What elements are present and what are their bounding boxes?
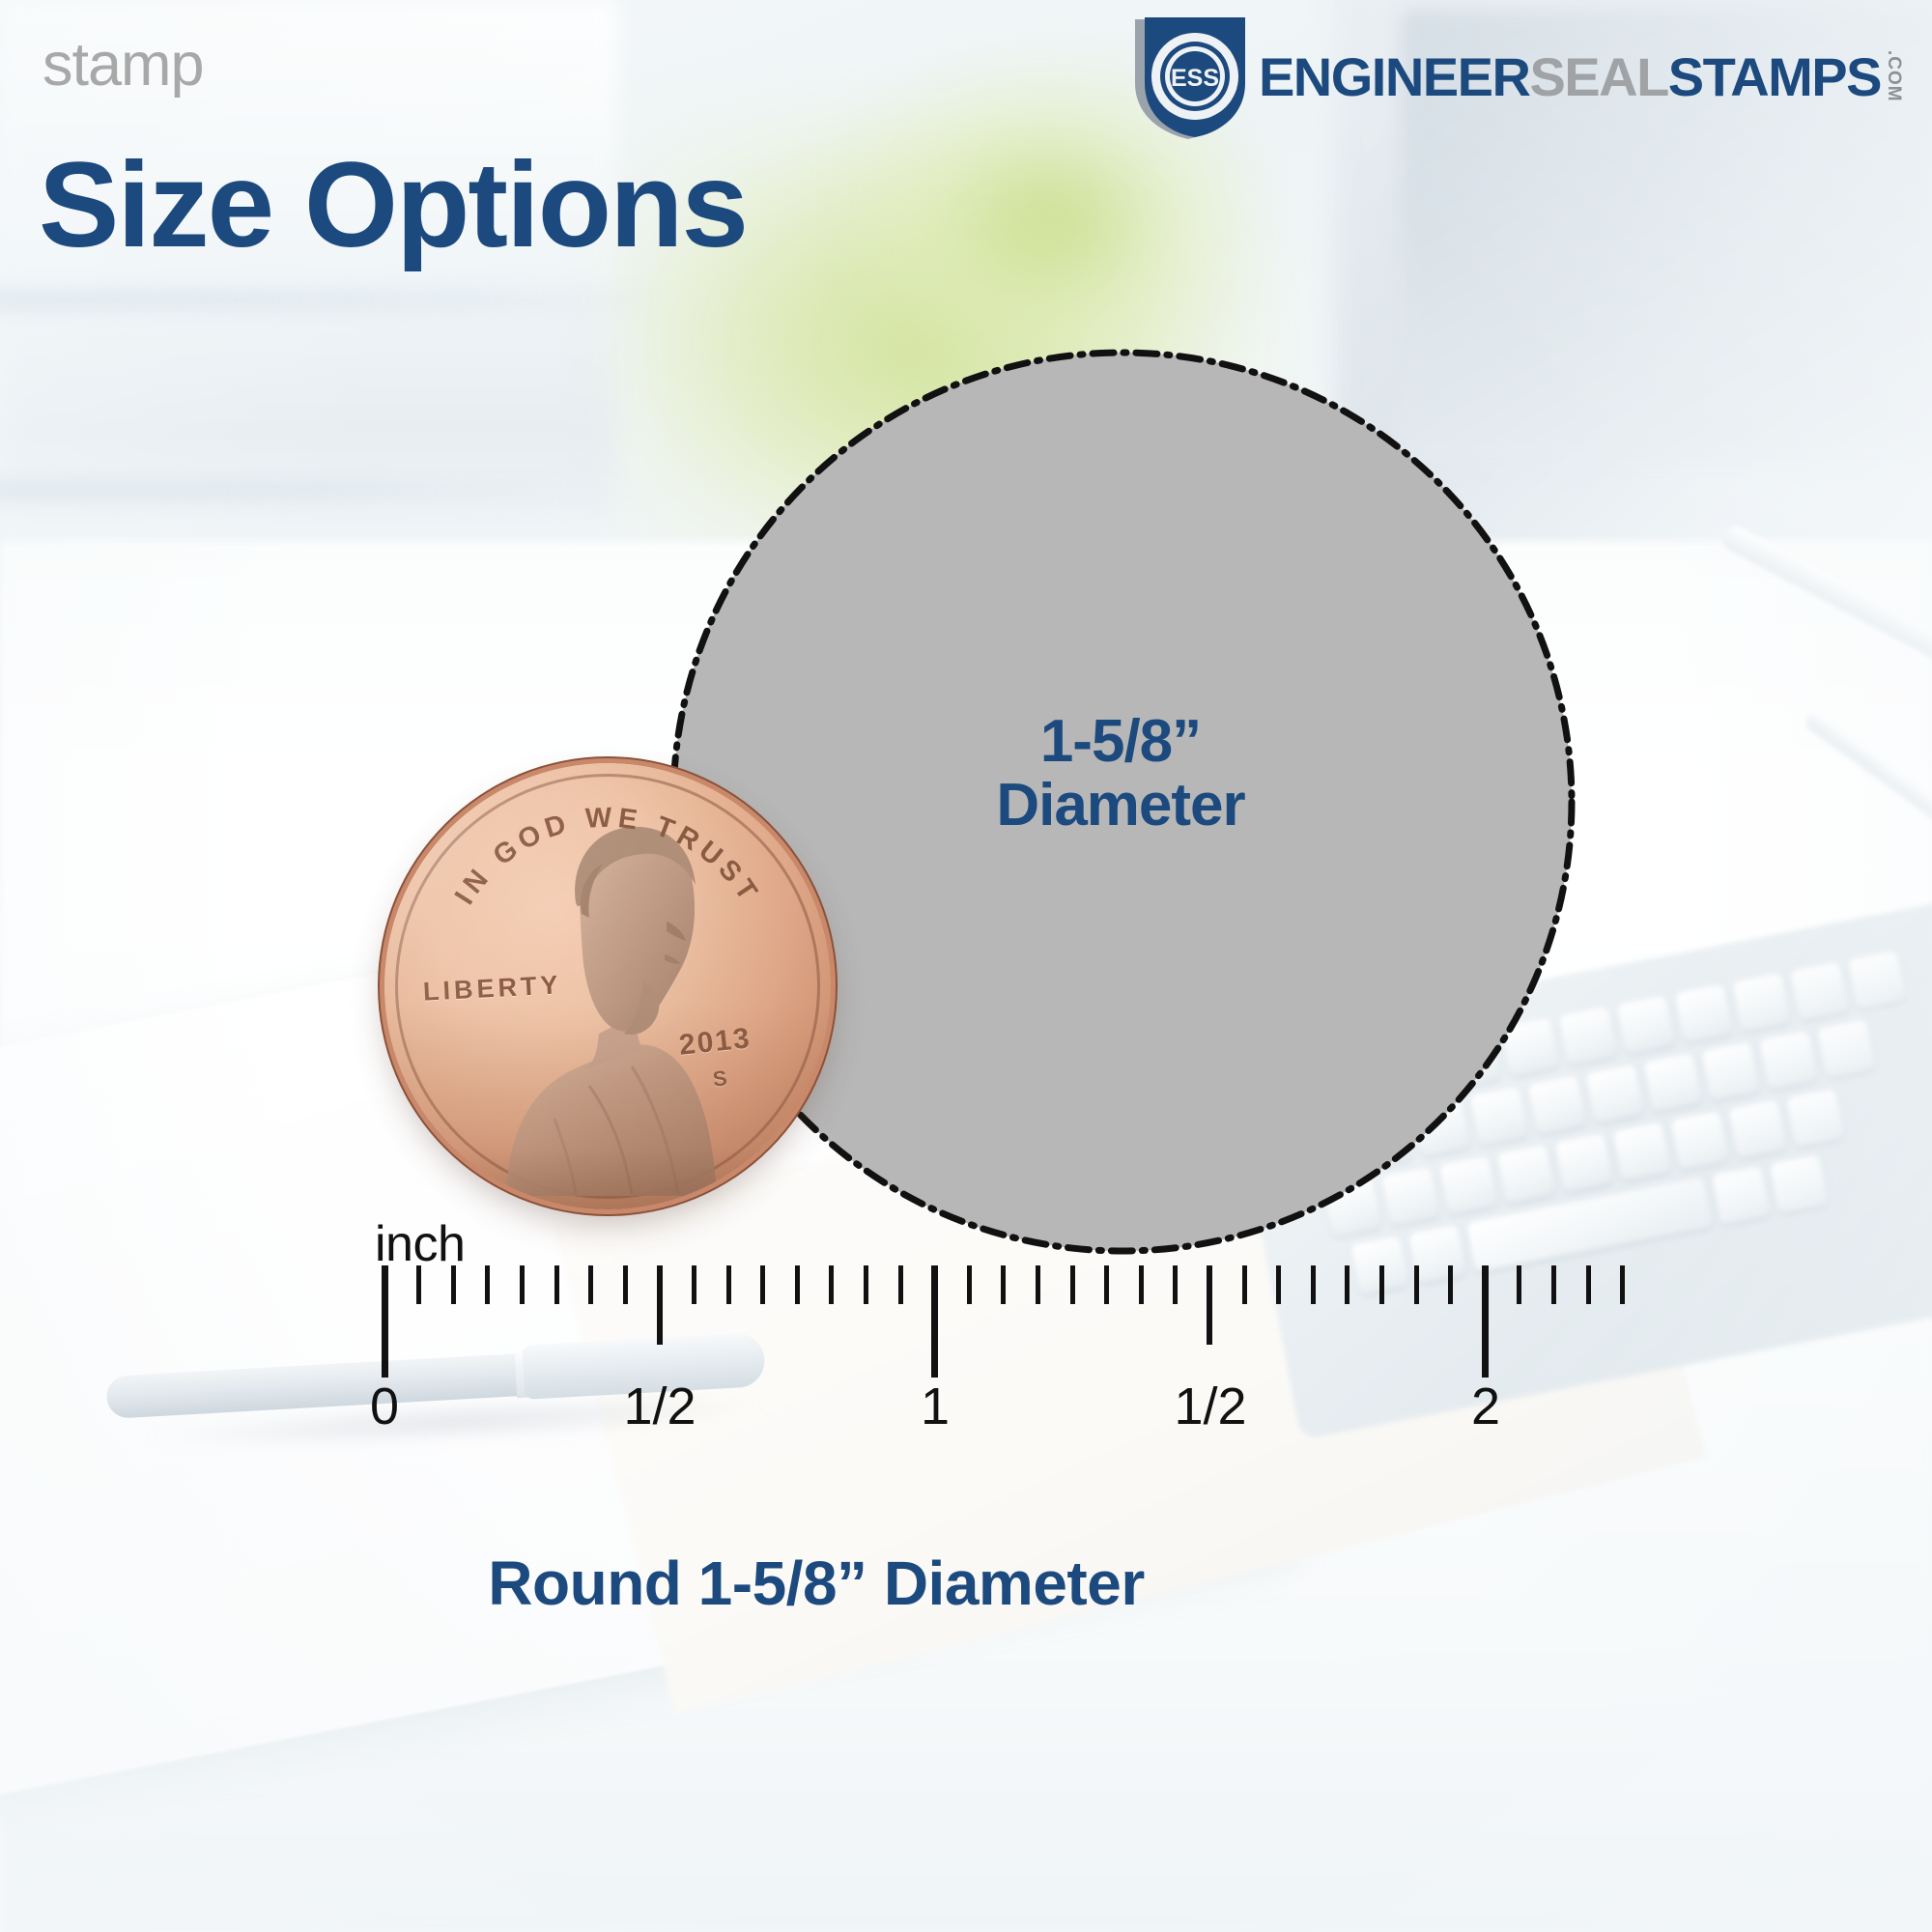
ruler-tick [1414, 1265, 1419, 1304]
ruler-tick [967, 1265, 972, 1304]
ruler-tick [657, 1265, 663, 1345]
ruler-label: 1 [921, 1377, 950, 1436]
ruler-tick [1036, 1265, 1040, 1304]
ruler-tick [1276, 1265, 1281, 1304]
ruler-tick [1586, 1265, 1591, 1304]
ruler-tick [1173, 1265, 1178, 1304]
ruler-tick [829, 1265, 834, 1304]
ruler-tick [1448, 1265, 1453, 1304]
ruler-tick [864, 1265, 868, 1304]
ruler-tick [1001, 1265, 1006, 1304]
brand-word-com: .COM [1885, 50, 1903, 102]
ruler-tick [451, 1265, 456, 1304]
inch-ruler [0, 1215, 1932, 1428]
svg-text:ESS: ESS [1171, 65, 1219, 92]
size-options-graphic: stamp Size Options ESS [0, 0, 1932, 1932]
brand-word-stamps: STAMPS [1668, 50, 1881, 104]
ruler-tick [1242, 1265, 1247, 1304]
ess-gear-shield-icon: ESS [1131, 15, 1245, 139]
ruler-tick [795, 1265, 800, 1304]
ruler-tick [485, 1265, 490, 1304]
ruler-tick [726, 1265, 731, 1304]
ruler-tick [623, 1265, 628, 1304]
brand-word-engineer: ENGINEER [1259, 50, 1530, 104]
ruler-tick [1311, 1265, 1316, 1304]
ruler-tick [760, 1265, 765, 1304]
page-title: Size Options [39, 145, 747, 266]
ruler-label: 0 [370, 1377, 399, 1436]
ruler-tick [692, 1265, 696, 1304]
ruler-tick [1207, 1265, 1212, 1345]
penny-shading [384, 1004, 831, 1209]
ruler-tick [931, 1265, 938, 1378]
header-eyebrow: stamp [43, 35, 204, 96]
ruler-tick [1620, 1265, 1625, 1304]
brand-word-seal: SEAL [1529, 50, 1667, 104]
ruler-label: 2 [1471, 1377, 1500, 1436]
ruler-label: 1/2 [1174, 1377, 1246, 1436]
ruler-tick [382, 1265, 388, 1378]
ruler-tick [1379, 1265, 1384, 1304]
brand-logo[interactable]: ESS ENGINEERSEALSTAMPS.COM [1131, 15, 1903, 139]
ruler-tick [1104, 1265, 1109, 1304]
ruler-tick [1517, 1265, 1521, 1304]
ruler-tick [1482, 1265, 1489, 1378]
size-caption: Round 1-5/8” Diameter [0, 1548, 1633, 1619]
ruler-tick [554, 1265, 559, 1304]
penny-scale-reference: IN GOD WE TRUST LIBERTY 2013 S [384, 763, 831, 1209]
ruler-tick [1070, 1265, 1075, 1304]
ruler-tick [1139, 1265, 1144, 1304]
ruler-tick [416, 1265, 421, 1304]
ruler-tick [520, 1265, 525, 1304]
brand-wordmark: ENGINEERSEALSTAMPS.COM [1259, 50, 1903, 104]
ruler-label: 1/2 [623, 1377, 696, 1436]
ruler-tick [1551, 1265, 1556, 1304]
ruler-tick [898, 1265, 903, 1304]
ruler-tick [1345, 1265, 1350, 1304]
ruler-tick [588, 1265, 593, 1304]
